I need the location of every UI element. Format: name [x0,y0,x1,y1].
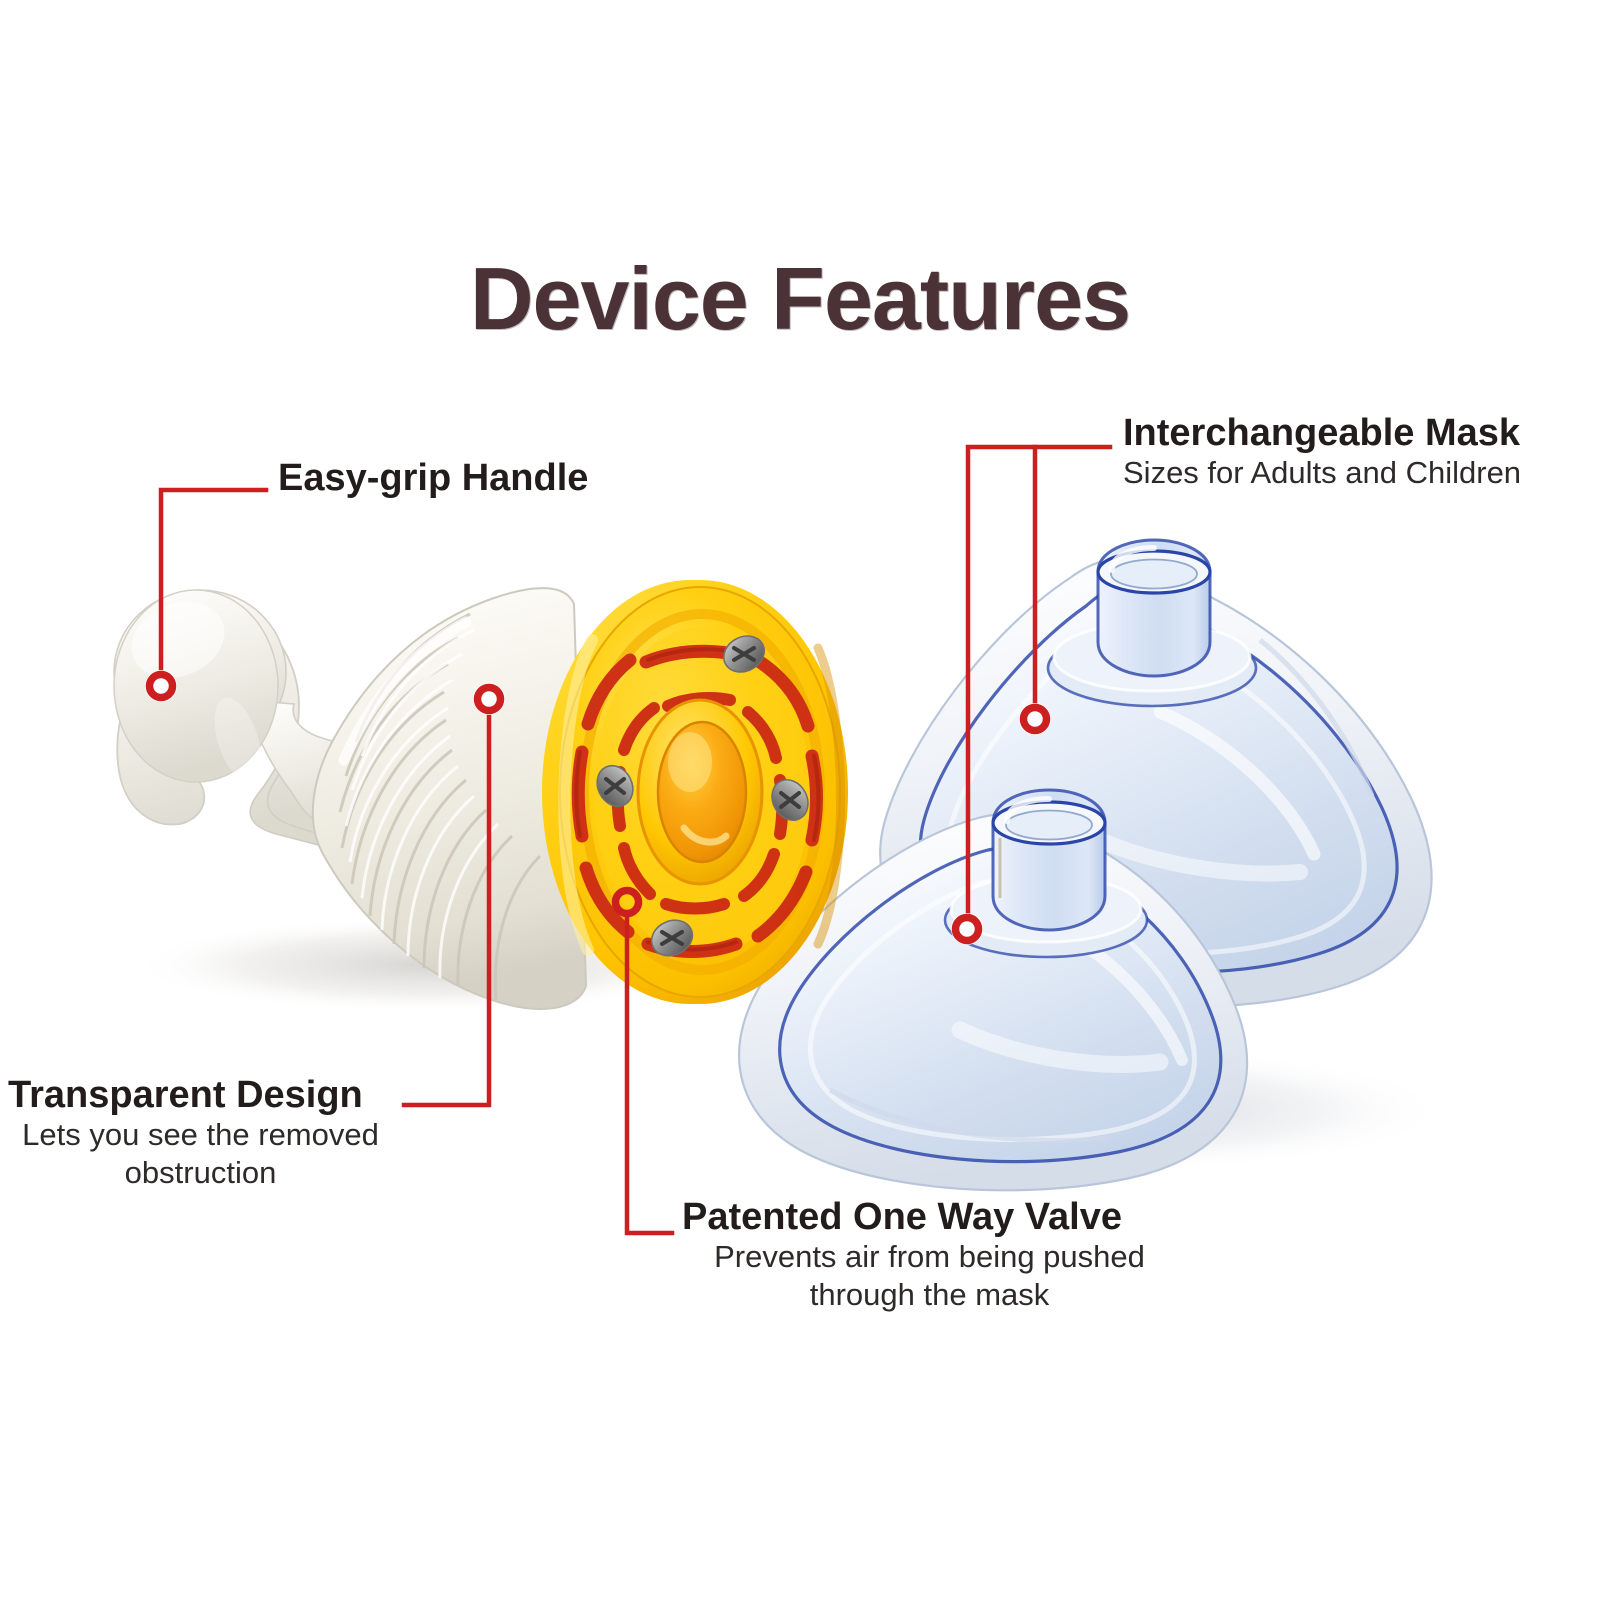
page-title: Device Features [0,248,1600,350]
callout-patented-one-way-valve-subtext: Prevents air from being pushed through t… [682,1238,1177,1314]
callout-interchangeable-mask-heading: Interchangeable Mask [1123,413,1521,454]
callout-interchangeable-mask: Interchangeable Mask Sizes for Adults an… [1123,413,1521,492]
callout-interchangeable-mask-subtext: Sizes for Adults and Children [1123,454,1521,492]
callout-transparent-design-subtext: Lets you see the removed obstruction [8,1116,393,1192]
product-illustration [0,0,1600,1600]
callout-patented-one-way-valve-heading: Patented One Way Valve [682,1197,1182,1238]
one-way-valve-cap [542,580,848,1004]
callout-transparent-design-heading: Transparent Design [8,1075,408,1116]
callout-patented-one-way-valve: Patented One Way Valve Prevents air from… [682,1197,1182,1314]
callout-easy-grip-handle-heading: Easy-grip Handle [278,458,588,499]
callout-easy-grip-handle: Easy-grip Handle [278,458,588,499]
callout-transparent-design: Transparent Design Lets you see the remo… [8,1075,408,1192]
infographic-canvas: Device Features Easy-grip Handle Interch… [0,0,1600,1600]
